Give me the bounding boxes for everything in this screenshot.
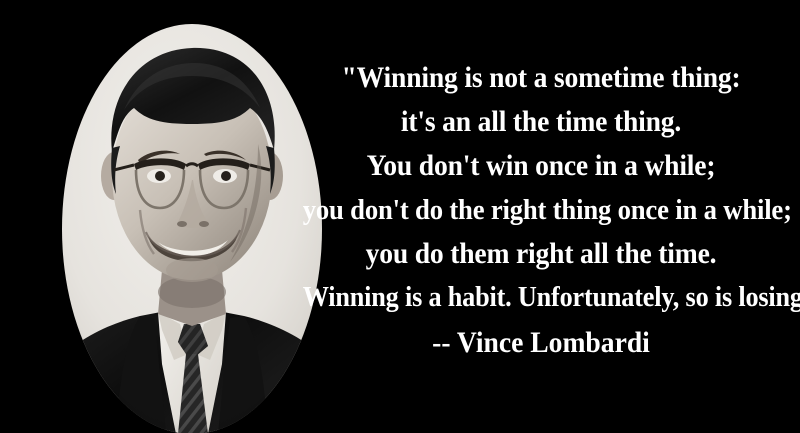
quote-line-3: You don't win once in a while; (303, 144, 780, 188)
quote-line-6: Winning is a habit. Unfortunately, so is… (303, 276, 780, 320)
quote-line-4: you don't do the right thing once in a w… (303, 188, 780, 232)
quote-line-1: "Winning is not a sometime thing: (303, 56, 780, 100)
quote-text-block: "Winning is not a sometime thing: it's a… (282, 56, 800, 366)
quote-line-2: it's an all the time thing. (303, 100, 780, 144)
quote-image-canvas: "Winning is not a sometime thing: it's a… (0, 0, 800, 433)
quote-attribution: -- Vince Lombardi (303, 320, 780, 366)
quote-line-5: you do them right all the time. (303, 232, 780, 276)
